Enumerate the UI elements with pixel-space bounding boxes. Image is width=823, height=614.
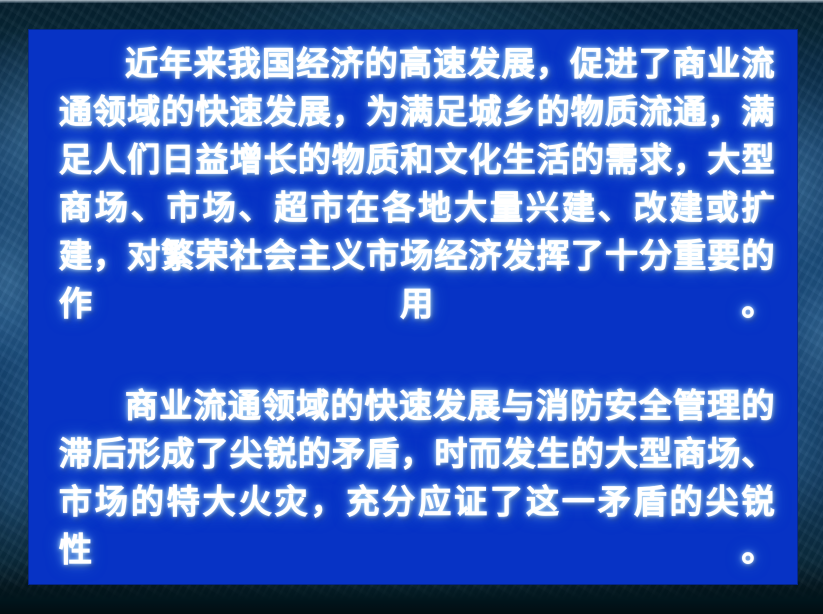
slide-text-block: 近年来我国经济的高速发展，促进了商业流通领域的快速发展，为满足城乡的物质流通，满… [59, 36, 775, 584]
slide-content-panel: 近年来我国经济的高速发展，促进了商业流通领域的快速发展，为满足城乡的物质流通，满… [29, 30, 797, 584]
bottom-shadow-fade [0, 580, 823, 614]
top-highlight-line [0, 0, 823, 3]
slide-stage: 近年来我国经济的高速发展，促进了商业流通领域的快速发展，为满足城乡的物质流通，满… [0, 0, 823, 614]
slide-paragraph-2: 商业流通领域的快速发展与消防安全管理的滞后形成了尖锐的矛盾，时而发生的大型商场、… [59, 382, 775, 584]
slide-paragraph-1: 近年来我国经济的高速发展，促进了商业流通领域的快速发展，为满足城乡的物质流通，满… [59, 40, 775, 376]
